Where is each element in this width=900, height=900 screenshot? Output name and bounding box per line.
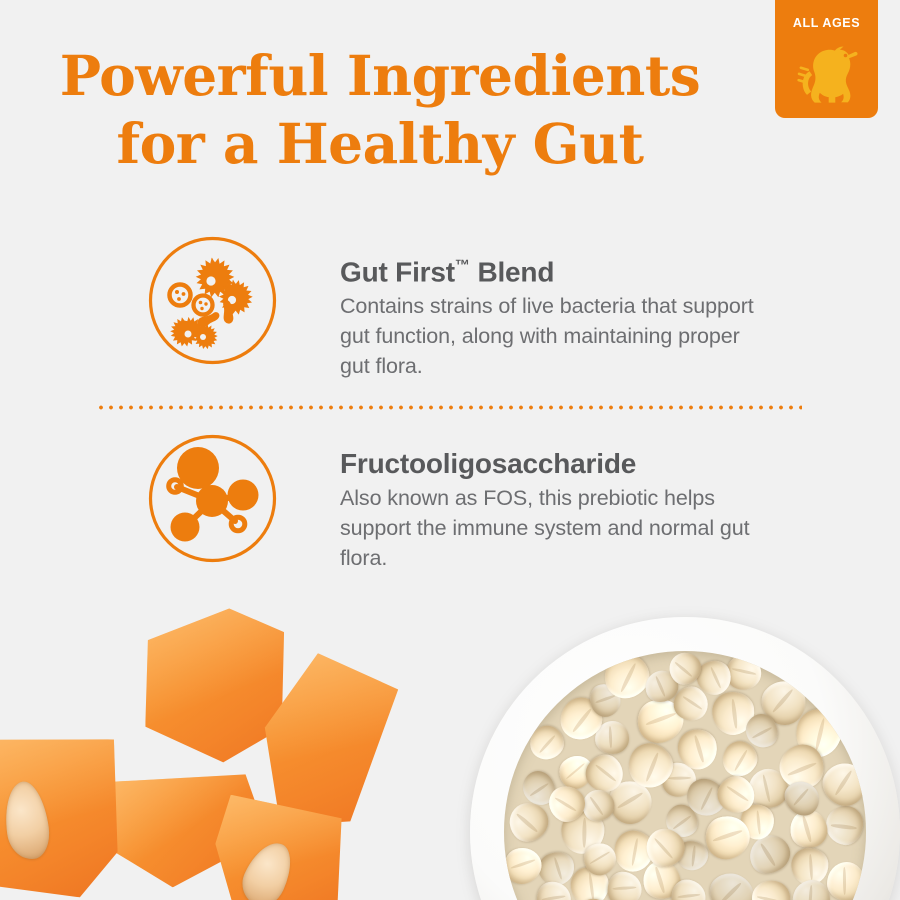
- feature-description: Contains strains of live bacteria that s…: [340, 291, 760, 381]
- feature-text-block: Gut First™ Blend Contains strains of liv…: [340, 235, 760, 381]
- bowl-interior: [504, 651, 866, 900]
- feature-title-suffix: Blend: [470, 256, 554, 287]
- headline-line-1: Powerful Ingredients: [60, 43, 700, 108]
- dotted-divider: [96, 405, 802, 410]
- sitting-dog-icon: [788, 38, 866, 108]
- chickpeas-in-white-bowl-photo: [470, 617, 900, 900]
- feature-title-main: Fructooligosaccharide: [340, 448, 636, 479]
- chickpea: [792, 879, 831, 900]
- feature-title: Fructooligosaccharide: [340, 447, 760, 480]
- feature-description: Also known as FOS, this prebiotic helps …: [340, 483, 760, 573]
- chickpea: [827, 862, 865, 900]
- chickpea: [534, 879, 573, 900]
- feature-text-block: Fructooligosaccharide Also known as FOS,…: [340, 433, 760, 573]
- feature-title: Gut First™ Blend: [340, 249, 760, 288]
- ingredient-photography: [0, 595, 900, 900]
- chickpea: [504, 842, 547, 888]
- feature-gut-first-blend: Gut First™ Blend Contains strains of liv…: [147, 235, 760, 381]
- chickpea: [824, 804, 865, 847]
- bacteria-circle-icon: [147, 235, 278, 366]
- squash-seed: [235, 835, 300, 900]
- chickpea: [606, 871, 642, 900]
- all-ages-badge: ALL AGES: [775, 0, 878, 118]
- page-title: Powerful Ingredients for a Healthy Gut: [0, 42, 760, 178]
- squash-chunk-with-seed: [0, 730, 125, 900]
- molecule-circle-icon: [147, 433, 278, 564]
- infographic-page: ALL AGES Powerful Ingredients for a Heal…: [0, 0, 900, 900]
- trademark-symbol: ™: [455, 257, 470, 274]
- feature-fructooligosaccharide: Fructooligosaccharide Also known as FOS,…: [147, 433, 760, 573]
- chickpea: [748, 877, 793, 900]
- feature-title-main: Gut First: [340, 256, 455, 287]
- squash-chunk: [141, 607, 288, 772]
- squash-seed: [0, 779, 52, 862]
- headline-line-2: for a Healthy Gut: [0, 110, 760, 178]
- all-ages-label: ALL AGES: [775, 16, 878, 30]
